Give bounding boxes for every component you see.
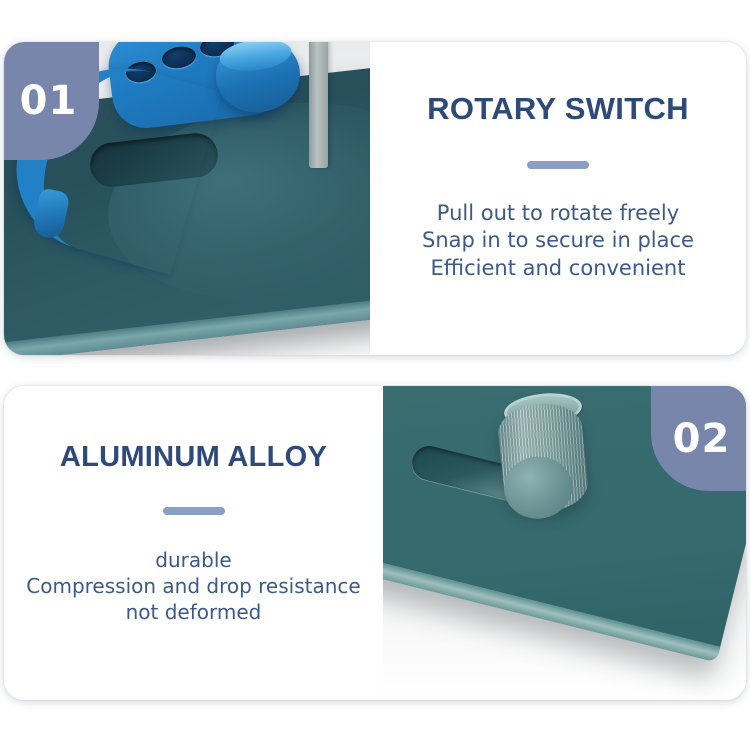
- pivot-top-face: [218, 42, 293, 74]
- aluminum-alloy-copy: ALUMINUM ALLOY durable Compression and d…: [4, 386, 383, 700]
- body-line: Pull out to rotate freely: [422, 200, 694, 227]
- rotary-switch-photo: 01: [4, 42, 370, 355]
- feature-card-rotary-switch: 01 ROTARY SWITCH Pull out to rotate free…: [4, 42, 746, 355]
- card-title-rotary-switch: ROTARY SWITCH: [427, 91, 689, 127]
- body-line: Compression and drop resistance: [26, 573, 360, 599]
- feature-card-aluminum-alloy: ALUMINUM ALLOY durable Compression and d…: [4, 386, 746, 700]
- card-body-rotary-switch: Pull out to rotate freely Snap in to sec…: [422, 200, 694, 282]
- title-divider: [527, 161, 589, 169]
- body-line: Efficient and convenient: [422, 255, 694, 282]
- aluminum-alloy-photo: 02: [383, 386, 746, 700]
- title-divider: [163, 507, 225, 515]
- rotary-switch-copy: ROTARY SWITCH Pull out to rotate freely …: [370, 42, 746, 355]
- card-body-aluminum-alloy: durable Compression and drop resistance …: [26, 547, 360, 625]
- support-post-right: [309, 42, 328, 168]
- body-line: durable: [26, 547, 360, 573]
- knurled-knob: [496, 400, 591, 516]
- card-title-aluminum-alloy: ALUMINUM ALLOY: [60, 441, 327, 474]
- body-line: Snap in to secure in place: [422, 227, 694, 254]
- body-line: not deformed: [26, 599, 360, 625]
- product-feature-page: 01 ROTARY SWITCH Pull out to rotate free…: [0, 0, 750, 750]
